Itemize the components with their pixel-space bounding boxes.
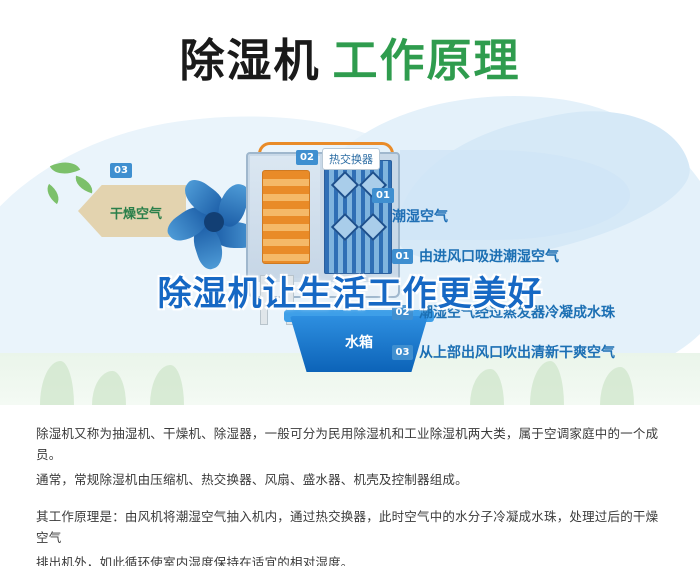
body-paragraph-1: 除湿机又称为抽湿机、干燥机、除湿器，一般可分为民用除湿机和工业除湿机两大类，属于… [36,423,664,465]
badge-02-heat-exchanger: 02 [296,150,318,165]
evaporator-fin [359,213,387,241]
evaporator-fin [331,171,359,199]
humid-air-label: 潮湿空气 [392,206,448,226]
body-paragraph-3: 其工作原理是：由风机将潮湿空气抽入机内，通过热交换器，此时空气中的水分子冷凝成水… [36,506,664,548]
overlay-banner: 除湿机让生活工作更美好 [0,262,700,318]
step-text: 从上部出风口吹出清新干爽空气 [419,345,615,361]
page-title: 除湿机工作原理 [0,24,700,89]
step-item-03: 03从上部出风口吹出清新干爽空气 [392,342,615,362]
fan-hub [204,212,224,232]
body-copy: 除湿机又称为抽湿机、干燥机、除湿器，一般可分为民用除湿机和工业除湿机两大类，属于… [0,405,700,566]
condenser-coil [262,170,310,264]
page-title-main: 除湿机 [179,34,320,87]
step-number: 03 [392,345,413,360]
body-paragraph-2: 通常，常规除湿机由压缩机、热交换器、风扇、盛水器、机壳及控制器组成。 [36,469,664,490]
paragraph-spacer [36,494,664,506]
page-title-accent: 工作原理 [333,34,521,87]
banner-text: 除湿机让生活工作更美好 [158,266,543,315]
evaporator-core [324,160,392,274]
infographic-page: 除湿机工作原理 干燥空气 03 [0,0,700,566]
diagram-area: 除湿机工作原理 干燥空气 03 [0,0,700,405]
badge-01-humid-air: 01 [372,188,394,203]
evaporator-fin [331,213,359,241]
badge-03-left: 03 [110,163,132,178]
heat-exchanger-label: 热交换器 [322,148,380,170]
body-paragraph-4: 排出机外，如此循环使室内湿度保持在适宜的相对湿度。 [36,552,664,566]
